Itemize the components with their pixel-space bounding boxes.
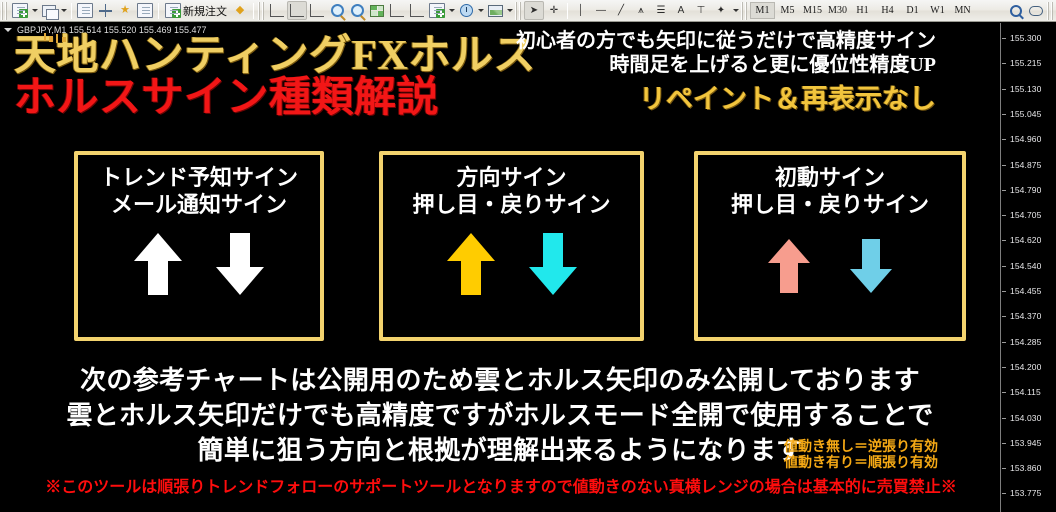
templates-icon[interactable] xyxy=(485,1,505,20)
up-arrow-icon xyxy=(444,229,498,299)
new-order-button[interactable]: 新規注文 xyxy=(162,1,230,20)
timeframe-m5[interactable]: M5 xyxy=(775,2,800,19)
shapes-icon[interactable]: ✦ xyxy=(711,1,731,20)
price-axis-label: 154.115 xyxy=(1001,387,1056,398)
note-line1: 値動き無し＝逆張り有効 xyxy=(784,440,938,456)
bar-chart-icon[interactable] xyxy=(267,1,287,20)
main-toolbar: ★ 新規注文 ◆ ➤ ✛ │ — ╱ ⩚ ☰ A ⊤ ✦ M1 M5 M15 M… xyxy=(0,0,1056,22)
price-axis-label: 154.455 xyxy=(1001,286,1056,297)
price-axis-label: 155.300 xyxy=(1001,33,1056,44)
timeframe-h4[interactable]: H4 xyxy=(875,2,900,19)
zoom-in-icon[interactable] xyxy=(327,1,347,20)
timeframe-m15[interactable]: M15 xyxy=(800,2,825,19)
initial-move-sign-box[interactable]: 初動サイン 押し目・戻りサイン xyxy=(694,151,966,341)
toolbar-grip[interactable] xyxy=(515,2,522,20)
description-line1: 次の参考チャートは公開用のため雲とホルス矢印のみ公開しております xyxy=(0,368,1000,394)
shapes-dropdown-icon[interactable] xyxy=(731,1,740,20)
box3-arrows xyxy=(762,229,898,299)
horizontal-line-icon[interactable]: — xyxy=(591,1,611,20)
candlestick xyxy=(49,36,53,42)
price-axis-label: 154.705 xyxy=(1001,210,1056,221)
headline-line3: リペイント＆再表示なし xyxy=(639,85,936,113)
price-axis-label: 155.215 xyxy=(1001,58,1056,69)
timeframe-w1[interactable]: W1 xyxy=(925,2,950,19)
description-line2: 雲とホルス矢印だけでも高精度ですがホルスモード全開で使用することで xyxy=(0,403,1000,429)
chart-shift-icon[interactable] xyxy=(387,1,407,20)
chart-plot-area[interactable]: 天地ハンティングFXホルス ホルスサイン種類解説 初心者の方でも矢印に従うだけで… xyxy=(0,23,1000,511)
timeframe-d1[interactable]: D1 xyxy=(900,2,925,19)
box1-line1: トレンド予知サイン xyxy=(100,165,298,192)
timeframe-m1[interactable]: M1 xyxy=(750,2,775,19)
periods-icon[interactable] xyxy=(456,1,476,20)
zoom-out-icon[interactable] xyxy=(347,1,367,20)
candlestick xyxy=(56,34,58,43)
price-axis-label: 154.790 xyxy=(1001,185,1056,196)
box3-line2: 押し目・戻りサイン xyxy=(731,192,929,219)
new-chart-dropdown-icon[interactable] xyxy=(30,1,39,20)
candlestick xyxy=(44,33,46,41)
box1-arrows xyxy=(131,229,267,299)
toolbar-grip[interactable] xyxy=(258,2,265,20)
toolbar-separator xyxy=(158,3,159,19)
toolbar-grip[interactable] xyxy=(1047,2,1054,20)
toolbar-separator xyxy=(71,3,72,19)
toolbar-separator xyxy=(253,3,254,19)
cursor-icon[interactable]: ➤ xyxy=(524,1,544,20)
price-axis-label: 154.200 xyxy=(1001,362,1056,373)
tile-windows-icon[interactable] xyxy=(367,1,387,20)
sign-boxes-row: トレンド予知サイン メール通知サイン 方向サイン 押し目・戻りサイン xyxy=(0,151,1000,341)
line-chart-icon[interactable] xyxy=(307,1,327,20)
price-axis[interactable]: 155.300155.215155.130155.045154.960154.8… xyxy=(1000,23,1056,512)
community-icon[interactable] xyxy=(1026,1,1046,20)
indicators-icon[interactable] xyxy=(427,1,447,20)
box3-line1: 初動サイン xyxy=(775,165,885,192)
direction-sign-box[interactable]: 方向サイン 押し目・戻りサイン xyxy=(379,151,644,341)
trendline-icon[interactable]: ╱ xyxy=(611,1,631,20)
timeframe-mn[interactable]: MN xyxy=(950,2,975,19)
trend-forecast-sign-box[interactable]: トレンド予知サイン メール通知サイン xyxy=(74,151,324,341)
vertical-line-icon[interactable]: │ xyxy=(571,1,591,20)
box1-line2: メール通知サイン xyxy=(111,192,287,219)
up-arrow-icon xyxy=(131,229,185,299)
page-title-line1: 天地ハンティングFXホルス xyxy=(14,35,536,77)
price-axis-label: 154.285 xyxy=(1001,337,1056,348)
up-arrow-icon xyxy=(762,229,816,299)
templates-dropdown-icon[interactable] xyxy=(505,1,514,20)
chart-window[interactable]: GBPJPY,M1 155.514 155.520 155.469 155.47… xyxy=(0,22,1056,511)
note-line2: 値動き有り＝順張り有効 xyxy=(784,456,938,472)
text-icon[interactable]: A xyxy=(671,1,691,20)
timeframe-h1[interactable]: H1 xyxy=(850,2,875,19)
toolbar-grip[interactable] xyxy=(741,2,748,20)
data-window-icon[interactable] xyxy=(95,1,115,20)
headline-line1: 初心者の方でも矢印に従うだけで高精度サイン xyxy=(516,31,936,52)
profiles-icon[interactable] xyxy=(39,1,59,20)
toolbar-grip[interactable] xyxy=(1,2,8,20)
toolbar-separator xyxy=(567,3,568,19)
price-axis-label: 154.960 xyxy=(1001,134,1056,145)
candlestick xyxy=(62,37,66,42)
indicators-dropdown-icon[interactable] xyxy=(447,1,456,20)
text-label-icon[interactable]: ⊤ xyxy=(691,1,711,20)
crosshair-tool-icon[interactable]: ✛ xyxy=(544,1,564,20)
periods-dropdown-icon[interactable] xyxy=(476,1,485,20)
page-title-line2: ホルスサイン種類解説 xyxy=(14,77,439,119)
search-icon[interactable] xyxy=(1006,1,1026,20)
timeframe-m30[interactable]: M30 xyxy=(825,2,850,19)
price-axis-label: 153.775 xyxy=(1001,488,1056,499)
box2-line2: 押し目・戻りサイン xyxy=(412,192,610,219)
price-axis-label: 154.620 xyxy=(1001,235,1056,246)
expert-advisors-icon[interactable]: ◆ xyxy=(230,1,250,20)
market-watch-icon[interactable] xyxy=(75,1,95,20)
price-axis-label: 153.945 xyxy=(1001,438,1056,449)
fibonacci-retracement-icon[interactable]: ⩚ xyxy=(631,1,651,20)
new-chart-icon[interactable] xyxy=(10,1,30,20)
price-axis-label: 154.030 xyxy=(1001,413,1056,424)
price-axis-label: 155.045 xyxy=(1001,109,1056,120)
box2-line1: 方向サイン xyxy=(456,165,566,192)
headline-line2: 時間足を上げると更に優位性精度UP xyxy=(609,55,936,76)
warning-text: ※このツールは順張りトレンドフォローのサポートツールとなりますので値動きのない真… xyxy=(0,480,1000,496)
price-axis-label: 154.540 xyxy=(1001,261,1056,272)
box2-arrows xyxy=(444,229,580,299)
navigator-icon[interactable]: ★ xyxy=(115,1,135,20)
profiles-dropdown-icon[interactable] xyxy=(59,1,68,20)
equidistant-channel-icon[interactable]: ☰ xyxy=(651,1,671,20)
terminal-icon[interactable] xyxy=(135,1,155,20)
new-order-label: 新規注文 xyxy=(183,3,227,19)
price-axis-label: 155.130 xyxy=(1001,84,1056,95)
down-arrow-icon xyxy=(526,229,580,299)
price-axis-label: 154.370 xyxy=(1001,311,1056,322)
candlestick-chart-icon[interactable] xyxy=(287,1,307,20)
price-axis-label: 153.860 xyxy=(1001,463,1056,474)
price-axis-label: 154.875 xyxy=(1001,160,1056,171)
auto-scroll-icon[interactable] xyxy=(407,1,427,20)
down-arrow-icon xyxy=(844,229,898,299)
down-arrow-icon xyxy=(213,229,267,299)
